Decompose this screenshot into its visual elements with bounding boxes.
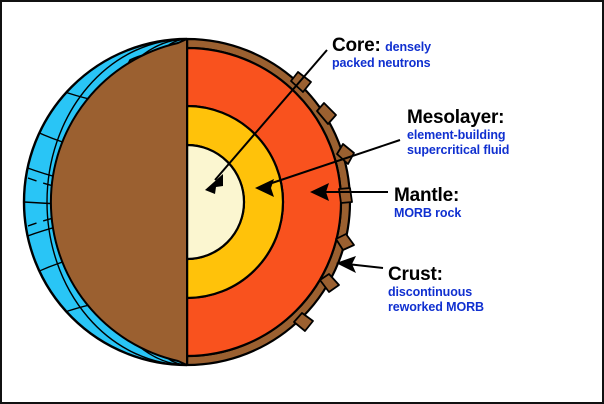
- label-crust-sub-line-2: reworked MORB: [388, 300, 484, 315]
- label-mantle-heading: Mantle:: [394, 185, 461, 206]
- label-core-sub-inline: densely: [385, 40, 431, 54]
- label-core-sub-line-2: packed neutrons: [332, 56, 431, 71]
- label-crust: Crust: discontinuous reworked MORB: [388, 264, 484, 315]
- label-crust-sub-line-1: discontinuous: [388, 285, 484, 300]
- figure-frame: Core: densely packed neutrons Mesolayer:…: [0, 0, 604, 404]
- label-mantle-sub-line-1: MORB rock: [394, 206, 461, 221]
- label-mantle: Mantle: MORB rock: [394, 185, 461, 221]
- label-mesolayer-sub-line-1: element-building: [407, 128, 509, 143]
- label-mesolayer: Mesolayer: element-building supercritica…: [407, 107, 509, 158]
- earth-cutaway-diagram: [2, 2, 602, 402]
- label-crust-heading: Crust:: [388, 264, 484, 285]
- label-core-heading: Core:: [332, 35, 381, 56]
- label-core: Core: densely packed neutrons: [332, 35, 431, 71]
- cutaway-section: [51, 39, 354, 365]
- label-mesolayer-heading: Mesolayer:: [407, 107, 509, 128]
- label-mesolayer-sub-line-2: supercritical fluid: [407, 143, 509, 158]
